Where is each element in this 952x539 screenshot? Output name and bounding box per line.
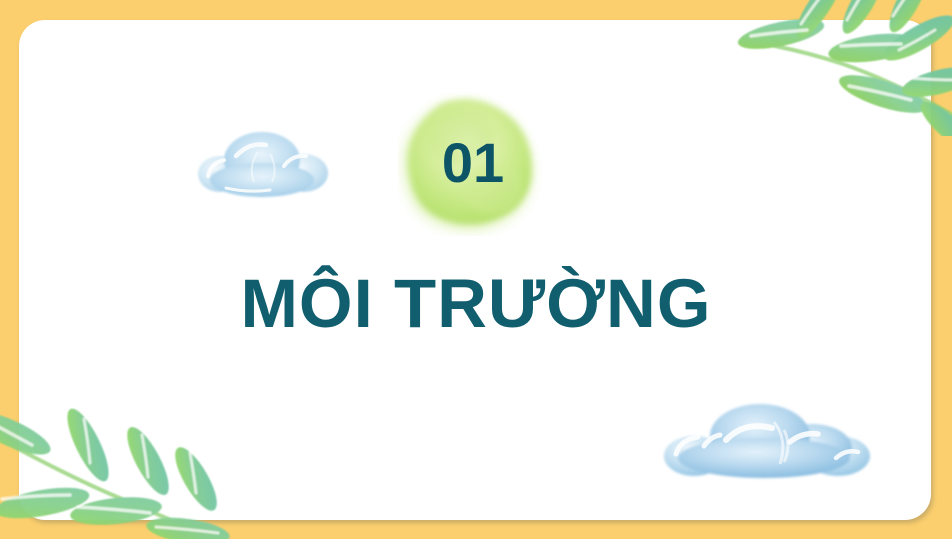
slide-canvas: 01 MÔI TRƯỜNG bbox=[0, 0, 952, 539]
number-blob-group: 01 bbox=[398, 88, 546, 236]
page-title: MÔI TRƯỜNG bbox=[0, 264, 952, 343]
cloud-large-icon bbox=[660, 396, 872, 482]
cloud-small-icon bbox=[196, 118, 330, 202]
leaf-branch-top-right-icon bbox=[723, 0, 952, 136]
slide-number: 01 bbox=[398, 88, 546, 236]
leaf-branch-bottom-left-icon bbox=[0, 399, 232, 539]
